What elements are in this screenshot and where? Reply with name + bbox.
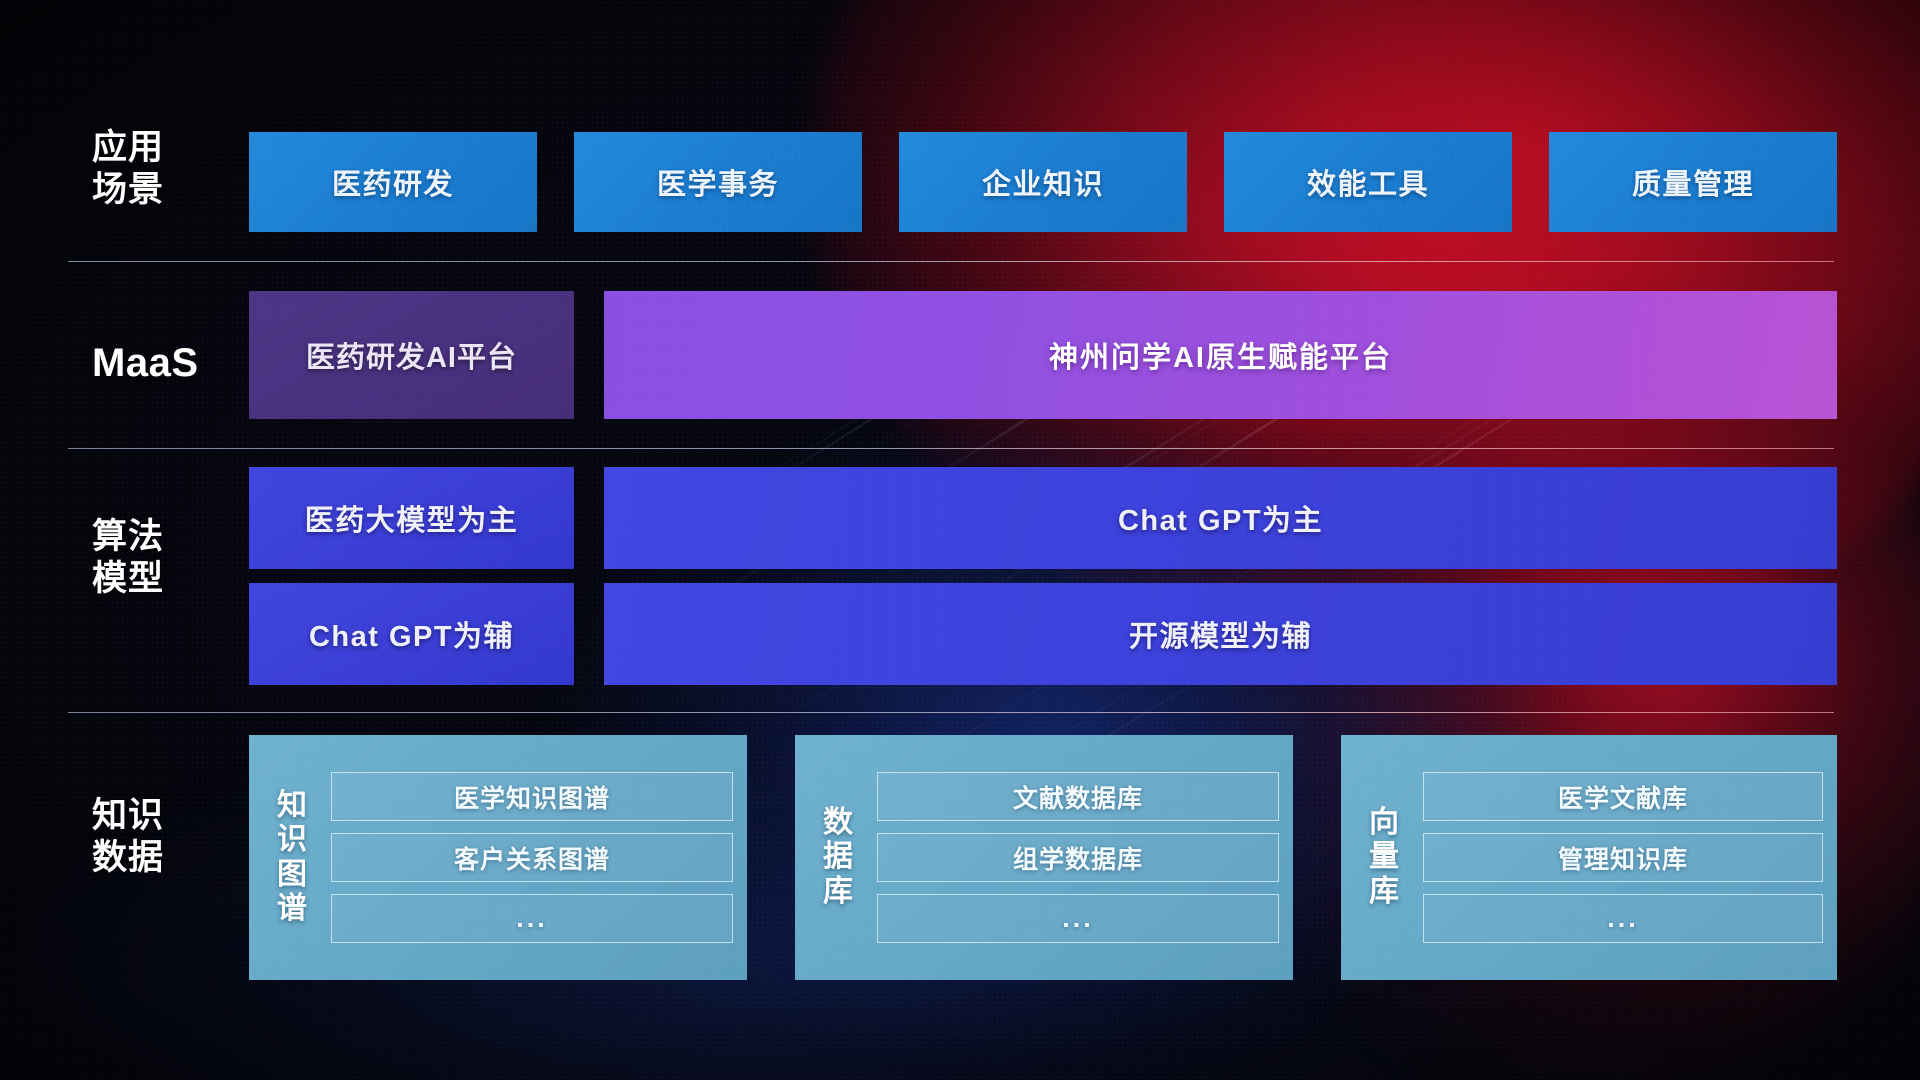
knowledge-row: 知 识 图 谱 医学知识图谱 客户关系图谱 ... 数 据 库 文献数据库 组学… xyxy=(0,735,1920,980)
knowledge-chip[interactable]: 管理知识库 xyxy=(1423,833,1823,882)
knowledge-panel-database-side-label: 数 据 库 xyxy=(805,747,871,968)
knowledge-panel-graph-side-label: 知 识 图 谱 xyxy=(259,747,325,968)
knowledge-chip[interactable]: 客户关系图谱 xyxy=(331,833,733,882)
knowledge-panel-database[interactable]: 数 据 库 文献数据库 组学数据库 ... xyxy=(795,735,1293,980)
architecture-diagram: 应用 场景 医药研发 医学事务 企业知识 效能工具 质量管理 MaaS 医药研发… xyxy=(0,0,1920,1080)
knowledge-panel-graph-chips: 医学知识图谱 客户关系图谱 ... xyxy=(325,747,733,968)
knowledge-panel-vector-side-label: 向 量 库 xyxy=(1351,747,1417,968)
knowledge-chip[interactable]: 医学知识图谱 xyxy=(331,772,733,821)
knowledge-chip-more[interactable]: ... xyxy=(1423,894,1823,943)
side-char: 图 xyxy=(277,858,307,892)
divider-3 xyxy=(68,712,1834,713)
side-char: 数 xyxy=(823,806,853,840)
algo-box-opensource-aux[interactable]: 开源模型为辅 xyxy=(604,583,1837,685)
side-char: 库 xyxy=(823,875,853,909)
side-char: 库 xyxy=(1369,875,1399,909)
knowledge-chip[interactable]: 医学文献库 xyxy=(1423,772,1823,821)
side-char: 向 xyxy=(1369,806,1399,840)
algo-box-pharma-main[interactable]: 医药大模型为主 xyxy=(249,467,574,569)
algo-box-chatgpt-aux[interactable]: Chat GPT为辅 xyxy=(249,583,574,685)
knowledge-panel-database-chips: 文献数据库 组学数据库 ... xyxy=(871,747,1279,968)
side-char: 据 xyxy=(823,840,853,874)
side-char: 量 xyxy=(1369,840,1399,874)
algo-box-chatgpt-main[interactable]: Chat GPT为主 xyxy=(604,467,1837,569)
knowledge-chip-more[interactable]: ... xyxy=(331,894,733,943)
side-char: 谱 xyxy=(277,892,307,926)
knowledge-panel-graph[interactable]: 知 识 图 谱 医学知识图谱 客户关系图谱 ... xyxy=(249,735,747,980)
knowledge-panel-vector[interactable]: 向 量 库 医学文献库 管理知识库 ... xyxy=(1341,735,1837,980)
knowledge-chip[interactable]: 组学数据库 xyxy=(877,833,1279,882)
knowledge-panel-vector-chips: 医学文献库 管理知识库 ... xyxy=(1417,747,1823,968)
knowledge-chip-more[interactable]: ... xyxy=(877,894,1279,943)
side-char: 识 xyxy=(277,823,307,857)
side-char: 知 xyxy=(277,789,307,823)
knowledge-chip[interactable]: 文献数据库 xyxy=(877,772,1279,821)
